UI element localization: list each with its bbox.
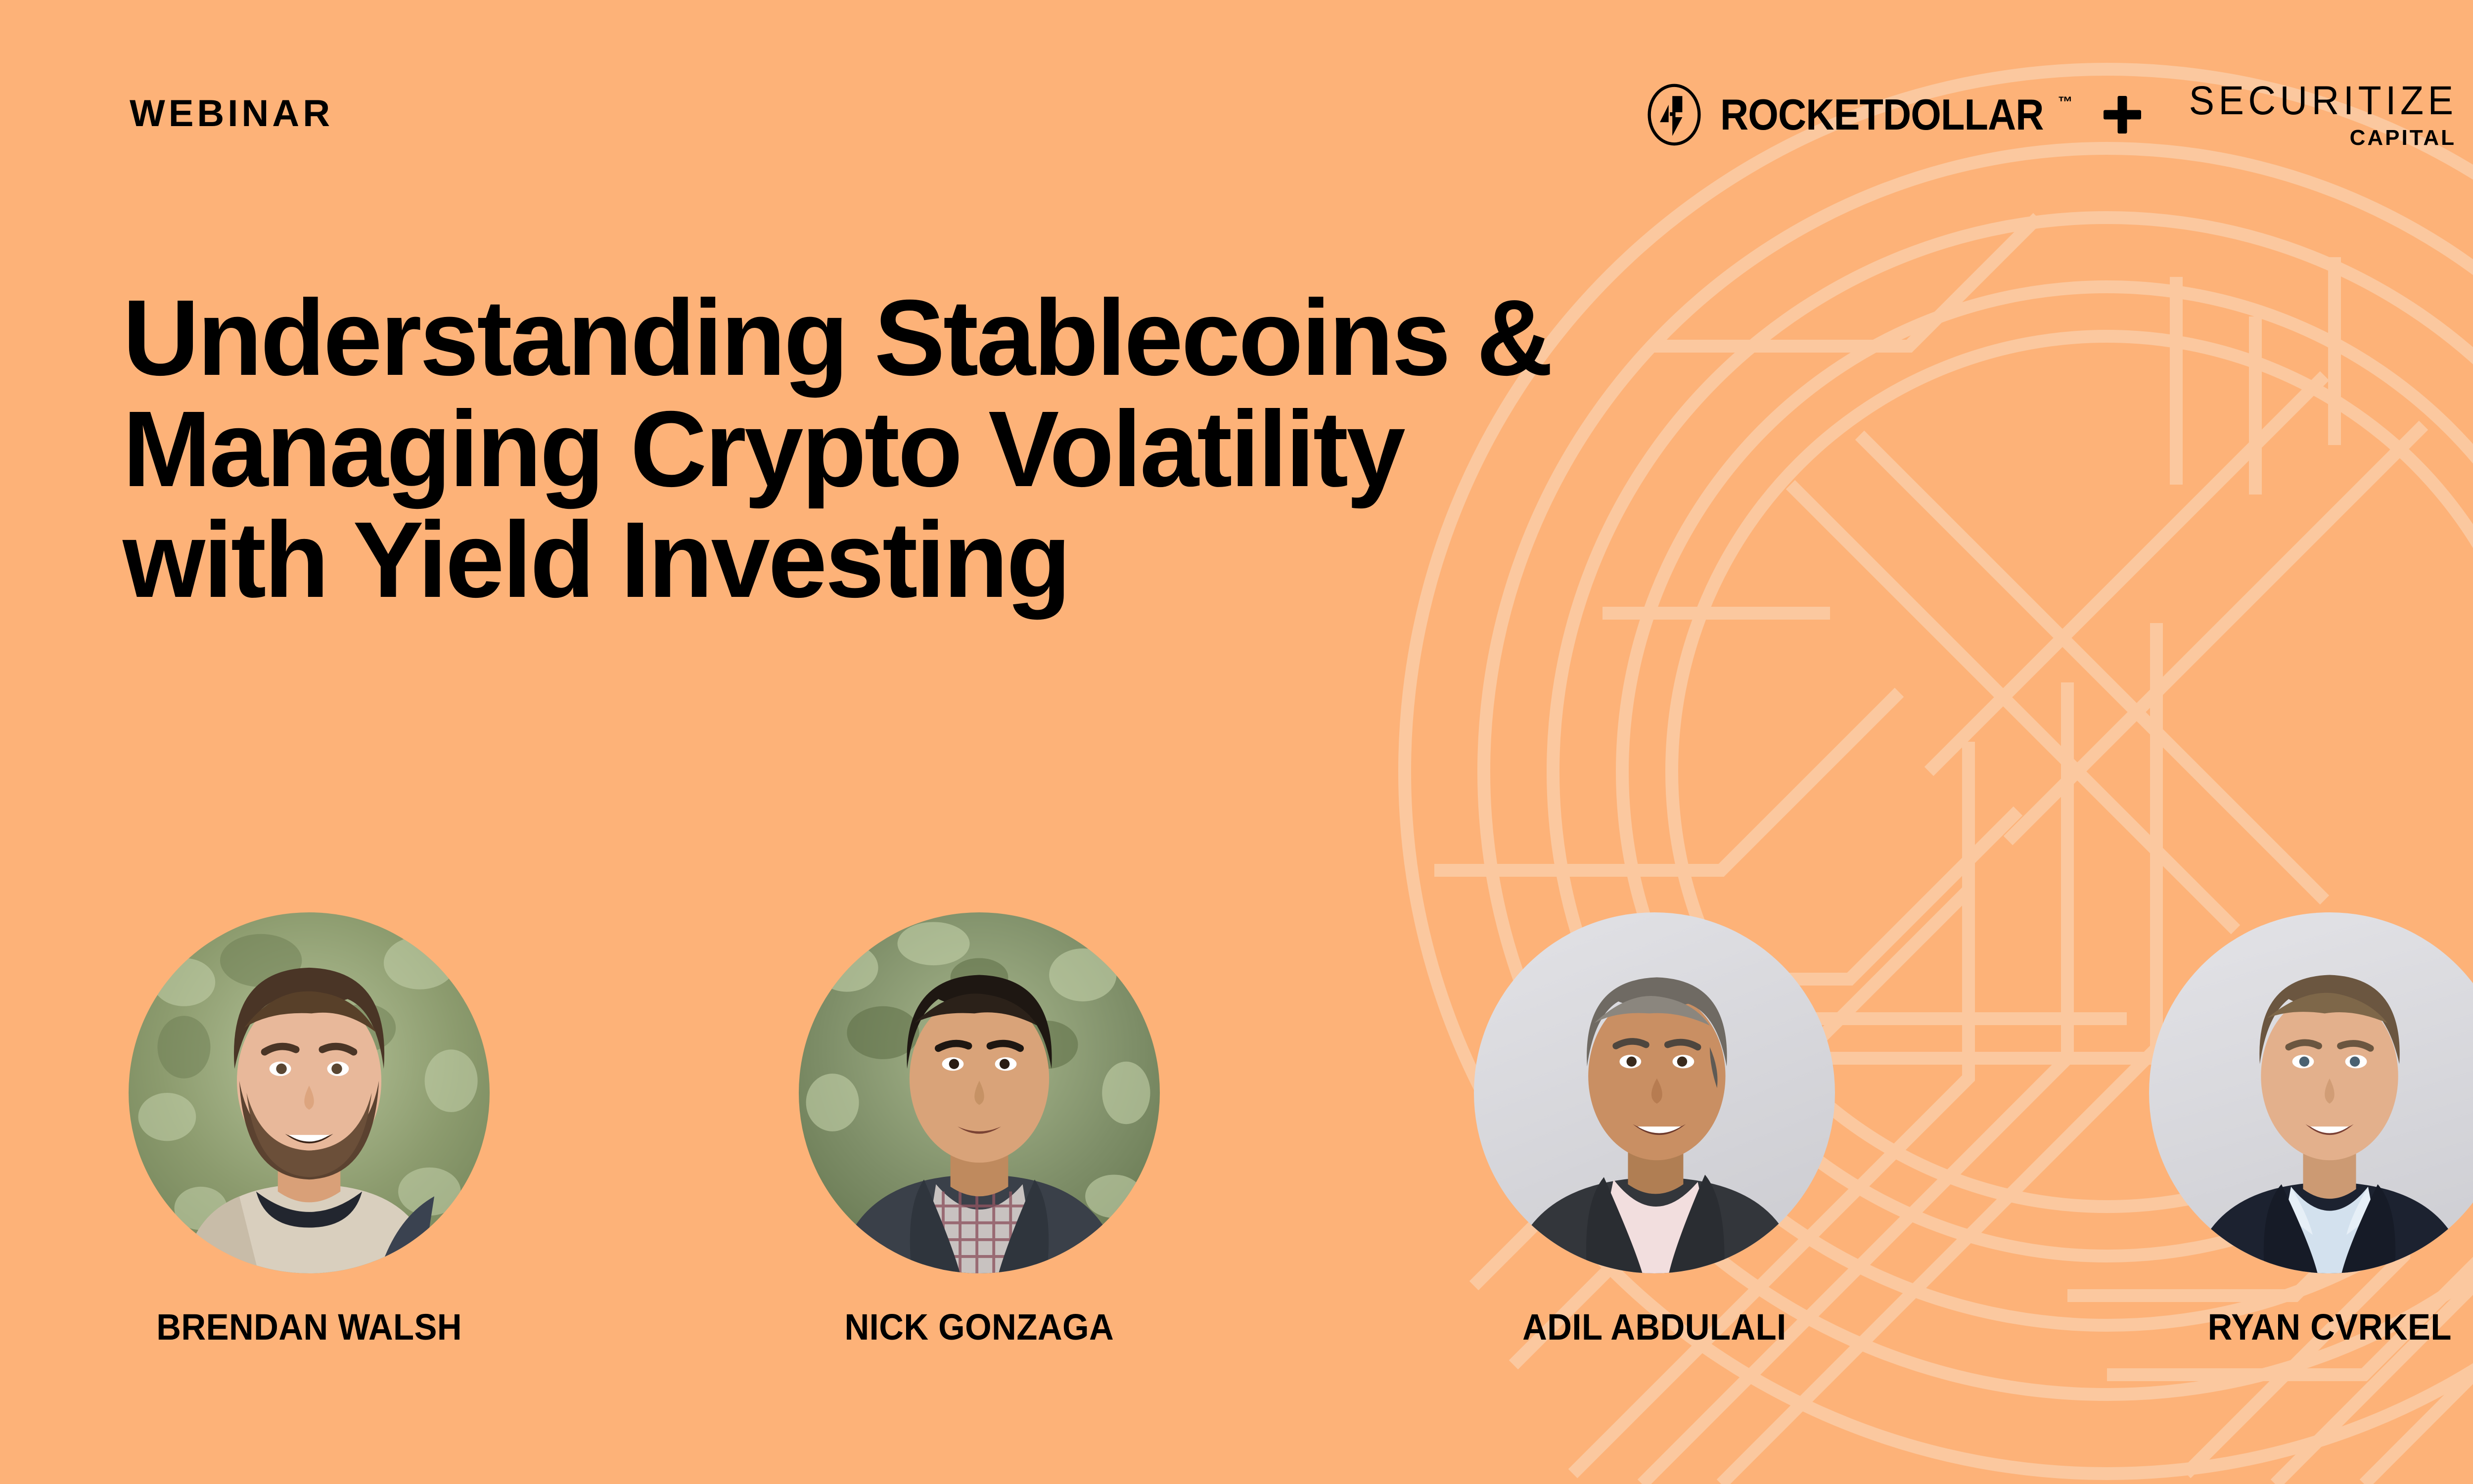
headline-line-3: with Yield Investing xyxy=(123,505,2266,616)
speaker-name: RYAN CVRKEL xyxy=(2207,1309,2451,1346)
securitize-wordmark: SECURITIZE xyxy=(2189,81,2457,121)
securitize-capital-logo: SECURITIZE CAPITAL S xyxy=(2172,78,2473,152)
avatar-ryan-cvrkel xyxy=(2149,912,2473,1273)
speaker-card-ryan-cvrkel: RYAN CVRKEL xyxy=(2040,912,2473,1346)
rocketdollar-wordmark: ROCKETDOLLAR xyxy=(1720,93,2044,136)
speaker-card-brendan-walsh: BRENDAN WALSH xyxy=(20,912,598,1346)
securitize-capital-subtitle: CAPITAL xyxy=(2350,127,2456,149)
speaker-card-adil-abdulali: ADIL ABDULALI xyxy=(1365,912,1944,1346)
trademark-symbol: ™ xyxy=(2058,95,2073,110)
speaker-card-nick-gonzaga: NICK GONZAGA xyxy=(690,912,1269,1346)
eyebrow-label: WEBINAR xyxy=(130,95,333,133)
speaker-name: BRENDAN WALSH xyxy=(156,1309,462,1346)
header: WEBINAR ROCKETDOLLAR ™ SECURITIZE CAPITA… xyxy=(0,0,2473,232)
avatar-adil-abdulali xyxy=(1474,912,1835,1273)
rocketdollar-logo: ROCKETDOLLAR ™ xyxy=(1643,84,2072,146)
headline-line-1: Understanding Stablecoins & xyxy=(123,283,2266,394)
plus-separator-icon xyxy=(2104,96,2141,134)
avatar-nick-gonzaga xyxy=(799,912,1160,1273)
speaker-name: ADIL ABDULALI xyxy=(1522,1309,1786,1346)
rocketdollar-wordmark-group: ROCKETDOLLAR ™ xyxy=(1720,93,2072,136)
securitize-text-group: SECURITIZE CAPITAL xyxy=(2172,81,2457,149)
speakers-row: BRENDAN WALSH xyxy=(0,912,2473,1407)
securitize-orbit-s-emblem-icon: S xyxy=(2470,78,2473,152)
speaker-name: NICK GONZAGA xyxy=(845,1309,1114,1346)
logo-lockup: ROCKETDOLLAR ™ SECURITIZE CAPITAL S xyxy=(1643,78,2473,152)
page-title: Understanding Stablecoins & Managing Cry… xyxy=(123,283,2299,616)
rocketdollar-emblem-icon xyxy=(1643,84,1705,146)
avatar-brendan-walsh xyxy=(129,912,490,1273)
headline-line-2: Managing Crypto Volatility xyxy=(123,394,2266,505)
